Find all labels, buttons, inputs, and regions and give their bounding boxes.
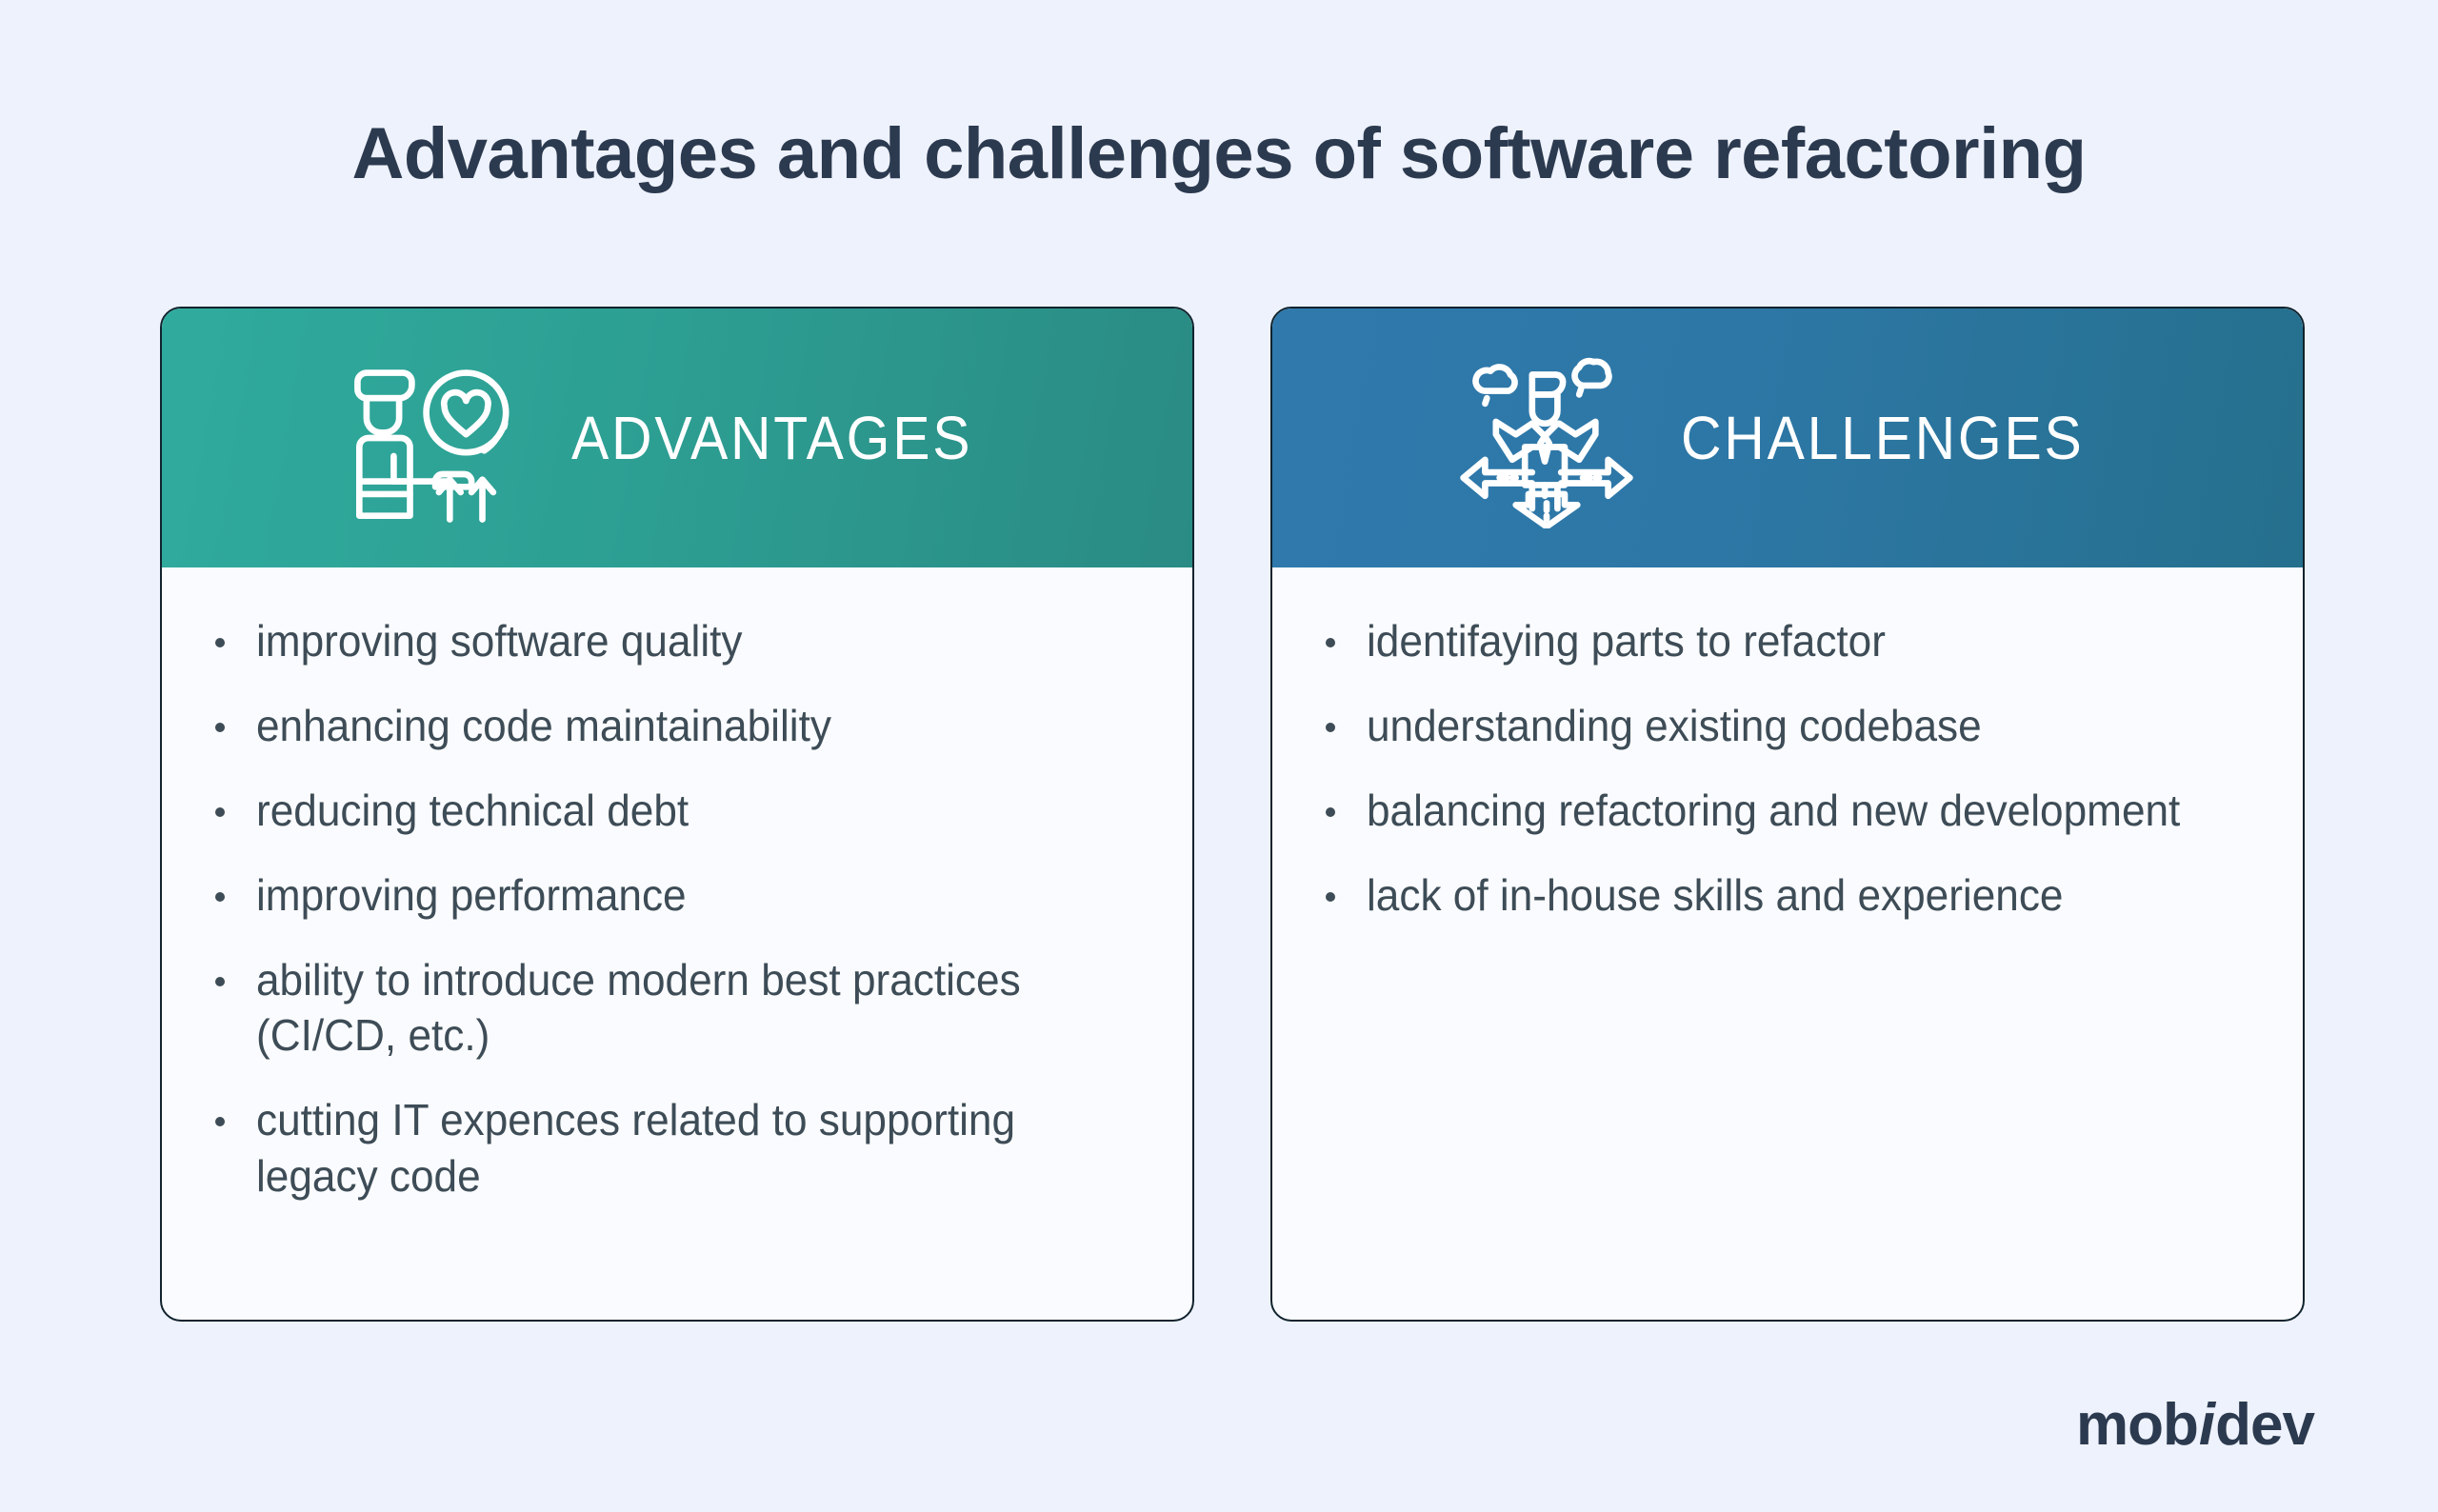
list-item-label: lack of in-house skills and experience <box>1367 867 2218 924</box>
bullet-dot-icon <box>1326 638 1335 647</box>
list-item: improving software quality <box>215 613 1143 669</box>
shrugging-businessman-with-thought-bubbles-and-direction-arrows-icon <box>1456 348 1637 528</box>
list-item: identifaying parts to refactor <box>1326 613 2253 669</box>
challenges-card-body: identifaying parts to refactor understan… <box>1272 567 2303 1320</box>
page-title: Advantages and challenges of software re… <box>0 112 2438 195</box>
challenges-card-header: CHALLENGES <box>1272 308 2303 567</box>
list-item: improving performance <box>215 867 1143 924</box>
logo-slash-i: i <box>2198 1396 2215 1455</box>
advantages-card: ADVANTAGES improving software quality en… <box>160 307 1194 1322</box>
list-item-label: improving software quality <box>256 613 1108 669</box>
list-item: balancing refactoring and new developmen… <box>1326 783 2253 839</box>
advantages-bullet-list: improving software quality enhancing cod… <box>215 613 1143 1204</box>
list-item: lack of in-house skills and experience <box>1326 867 2253 924</box>
logo-part-2: dev <box>2215 1396 2314 1455</box>
logo-part-1: mob <box>2076 1396 2198 1455</box>
advantages-card-header: ADVANTAGES <box>162 308 1192 567</box>
list-item: cutting IT expences related to supportin… <box>215 1092 1143 1204</box>
bullet-dot-icon <box>215 892 225 902</box>
list-item-label: balancing refactoring and new developmen… <box>1367 783 2218 839</box>
list-item: enhancing code maintainability <box>215 698 1143 754</box>
bullet-dot-icon <box>215 977 225 986</box>
bullet-dot-icon <box>215 807 225 817</box>
bullet-dot-icon <box>215 723 225 732</box>
bullet-dot-icon <box>215 638 225 647</box>
advantages-card-title: ADVANTAGES <box>571 408 972 468</box>
list-item-label: improving performance <box>256 867 1108 924</box>
list-item: reducing technical debt <box>215 783 1143 839</box>
person-with-heart-magnifier-and-up-arrows-icon <box>347 348 528 528</box>
bullet-dot-icon <box>1326 892 1335 902</box>
challenges-card: CHALLENGES identifaying parts to refacto… <box>1270 307 2305 1322</box>
bullet-dot-icon <box>215 1117 225 1126</box>
list-item-label: cutting IT expences related to supportin… <box>256 1092 1108 1204</box>
advantages-card-body: improving software quality enhancing cod… <box>162 567 1192 1320</box>
cards-row: ADVANTAGES improving software quality en… <box>160 307 2305 1322</box>
bullet-dot-icon <box>1326 807 1335 817</box>
list-item: understanding existing codebase <box>1326 698 2253 754</box>
bullet-dot-icon <box>1326 723 1335 732</box>
challenges-bullet-list: identifaying parts to refactor understan… <box>1326 613 2253 924</box>
list-item-label: reducing technical debt <box>256 783 1108 839</box>
list-item: ability to introduce modern best practic… <box>215 952 1143 1064</box>
list-item-label: understanding existing codebase <box>1367 698 2218 754</box>
list-item-label: identifaying parts to refactor <box>1367 613 2218 669</box>
challenges-card-title: CHALLENGES <box>1681 408 2085 468</box>
mobidev-logo: mobidev <box>2076 1396 2314 1455</box>
list-item-label: ability to introduce modern best practic… <box>256 952 1108 1064</box>
list-item-label: enhancing code maintainability <box>256 698 1108 754</box>
